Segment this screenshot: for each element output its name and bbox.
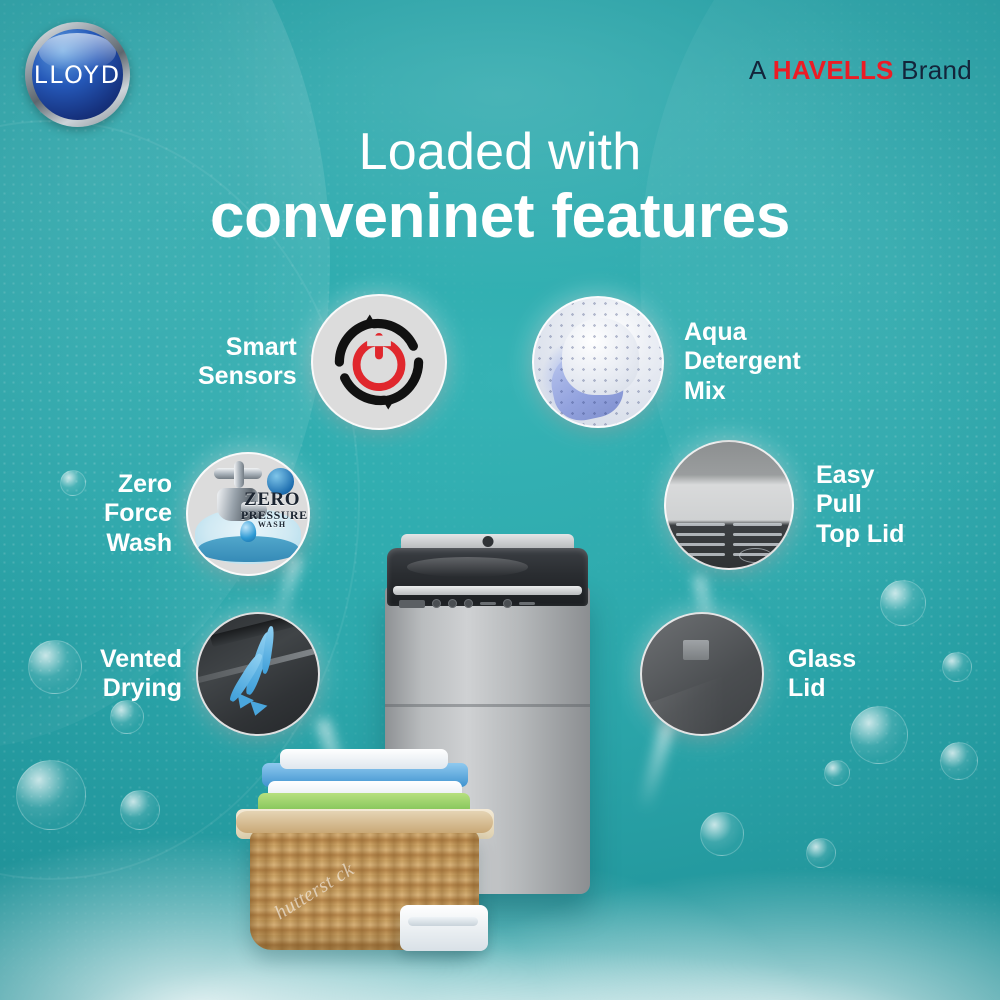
folded-towel-white	[280, 749, 448, 769]
havells-brand-line: A HAVELLS Brand	[749, 55, 972, 86]
detergent-powder-photo	[532, 296, 664, 428]
headline-line-1: Loaded with	[0, 126, 1000, 179]
bubble-icon	[700, 812, 744, 856]
feature-zero-force-wash[interactable]: Zero Force Wash ZERO PRESSURE WASH	[104, 452, 310, 576]
havells-name: HAVELLS	[773, 55, 894, 85]
folded-towel-outside	[400, 905, 488, 951]
zero-pressure-wash-badge: ZERO PRESSURE WASH	[186, 452, 310, 576]
machine-display	[399, 600, 425, 608]
glass-highlight	[683, 640, 709, 659]
vent-slot	[210, 612, 304, 646]
machine-label-bar	[480, 602, 496, 605]
feature-label: Aqua Detergent Mix	[684, 318, 801, 407]
bubble-icon	[942, 652, 972, 682]
feature-label: Glass Lid	[788, 645, 856, 704]
bubble-icon	[16, 760, 86, 830]
airflow-arrowhead-icon	[247, 701, 268, 718]
bubble-icon	[120, 790, 160, 830]
glass-reflection	[640, 659, 764, 736]
bubble-icon	[60, 470, 86, 496]
faucet-handle-icon	[234, 461, 245, 487]
feature-label: Smart Sensors	[198, 333, 297, 392]
havells-suffix: Brand	[894, 55, 972, 85]
machine-seam	[385, 704, 590, 707]
feature-label: Zero Force Wash	[104, 470, 172, 559]
bubble-icon	[880, 580, 926, 626]
power-refresh-icon	[311, 294, 447, 430]
machine-panel-strip	[393, 586, 582, 595]
machine-label-bar	[519, 602, 535, 605]
headline-line-2: conveninet features	[0, 185, 1000, 248]
bubble-icon	[850, 706, 908, 764]
detergent-heap	[562, 318, 639, 395]
lid-stamp-icon	[739, 548, 772, 563]
lloyd-logo-text: LLOYD	[32, 61, 123, 89]
airflow-arrows-photo	[196, 612, 320, 736]
machine-button[interactable]	[432, 599, 441, 608]
bubble-icon	[824, 760, 850, 786]
lloyd-logo[interactable]: LLOYD	[25, 22, 130, 127]
machine-button[interactable]	[464, 599, 473, 608]
machine-control-panel[interactable]	[399, 598, 580, 609]
bubble-icon	[940, 742, 978, 780]
machine-button[interactable]	[448, 599, 457, 608]
lloyd-sphere-icon: LLOYD	[32, 29, 123, 120]
machine-button[interactable]	[503, 599, 512, 608]
feature-easy-pull-top-lid[interactable]: Easy Pull Top Lid	[664, 440, 904, 570]
feature-label: Vented Drying	[100, 645, 182, 704]
bubble-icon	[806, 838, 836, 868]
zero-pressure-wash-text: ZERO PRESSURE WASH	[241, 490, 303, 529]
feature-aqua-detergent-mix[interactable]: Aqua Detergent Mix	[532, 296, 801, 428]
detergent-scoop	[546, 345, 629, 425]
top-lid-photo	[664, 440, 794, 570]
badge-line-1: ZERO	[241, 490, 303, 509]
feature-smart-sensors[interactable]: Smart Sensors	[198, 294, 447, 430]
feature-vented-drying[interactable]: Vented Drying	[100, 612, 320, 736]
feature-label: Easy Pull Top Lid	[816, 461, 904, 550]
badge-line-3: WASH	[241, 521, 303, 529]
basket-rim	[236, 811, 493, 833]
promo-banner: LLOYD A HAVELLS Brand Loaded with conven…	[0, 0, 1000, 1000]
page-title: Loaded with conveninet features	[0, 126, 1000, 248]
bubble-icon	[28, 640, 82, 694]
machine-knob-icon	[482, 536, 493, 547]
feature-glass-lid[interactable]: Glass Lid	[640, 612, 856, 736]
havells-prefix: A	[749, 55, 773, 85]
glass-lid-photo	[640, 612, 764, 736]
